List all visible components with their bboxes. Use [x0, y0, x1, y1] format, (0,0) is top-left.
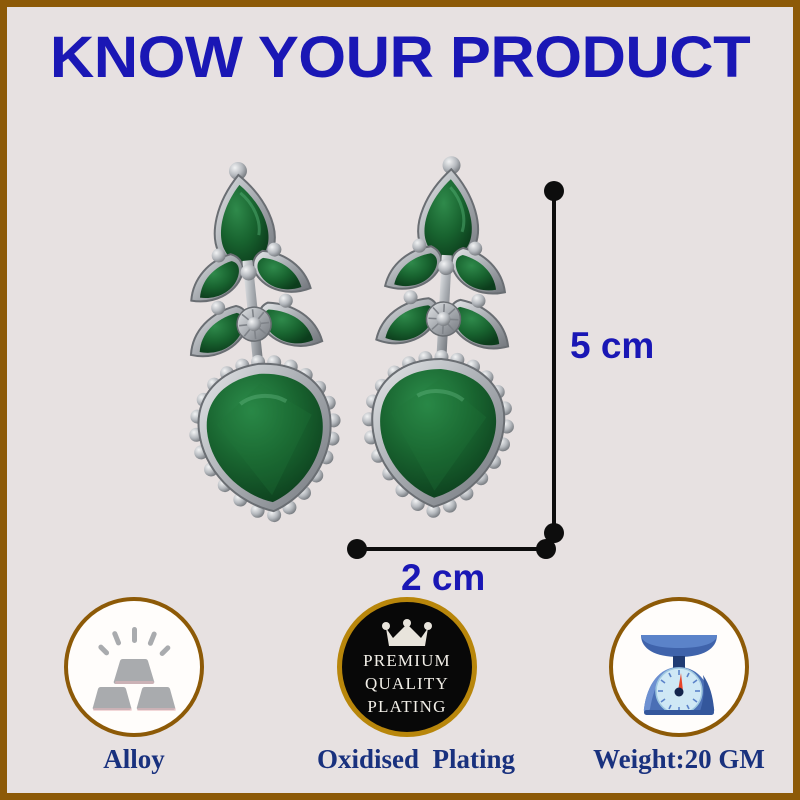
earring-right [332, 142, 553, 552]
badge-alloy: Alloy [44, 597, 224, 773]
crown-icon [380, 618, 434, 650]
badge-plating-label: Oxidised Plating [317, 746, 497, 773]
badge-weight-circle [609, 597, 749, 737]
height-dimension-line [552, 189, 556, 533]
seal-line-1: PREMIUM [342, 649, 472, 672]
width-dimension-label: 2 cm [401, 559, 485, 596]
width-dimension-line [355, 547, 545, 551]
badge-alloy-label: Alloy [44, 746, 224, 773]
feature-badge-row: Alloy PREMIUM QUALITY PLATING Oxidised P… [7, 597, 793, 793]
badge-plating-seal: PREMIUM QUALITY PLATING [337, 597, 477, 737]
weighing-scale-icon [625, 613, 733, 721]
badge-plating: PREMIUM QUALITY PLATING Oxidised Plating [317, 597, 497, 773]
infographic-canvas: KNOW YOUR PRODUCT [0, 0, 800, 800]
badge-plating-seal-text: PREMIUM QUALITY PLATING [342, 649, 472, 718]
badge-weight-label: Weight:20 GM [589, 746, 769, 773]
page-title: KNOW YOUR PRODUCT [0, 29, 800, 87]
badge-alloy-circle [64, 597, 204, 737]
width-dimension-endpoint-right [536, 539, 556, 559]
height-dimension-endpoint-top [544, 181, 564, 201]
product-image-area [7, 107, 793, 587]
seal-line-3: PLATING [342, 695, 472, 718]
badge-weight: Weight:20 GM [589, 597, 769, 773]
width-dimension-endpoint-left [347, 539, 367, 559]
earring-right-svg [332, 142, 553, 552]
gold-bars-icon [82, 615, 186, 719]
seal-line-2: QUALITY [342, 672, 472, 695]
height-dimension-label: 5 cm [570, 327, 654, 364]
